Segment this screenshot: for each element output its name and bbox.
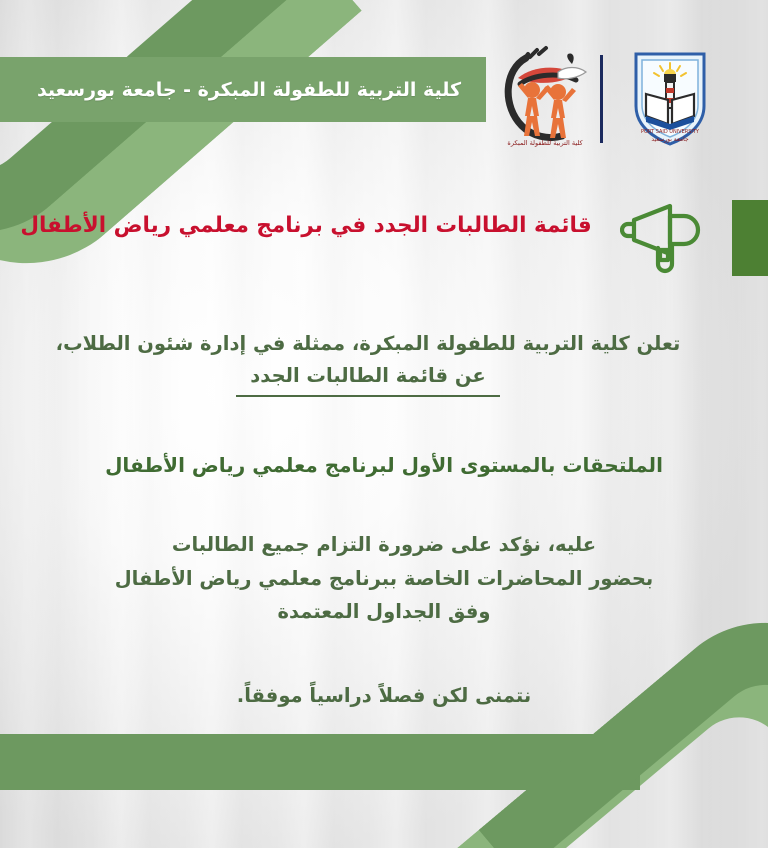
announcement-poster: كلية التربية للطفولة المبكرة - جامعة بور… <box>0 0 768 848</box>
logo-divider <box>600 55 603 143</box>
university-logo-caption-ar: جامعة بورسعيد <box>651 136 689 143</box>
university-logo: PORT SAID UNIVERSITY جامعة بورسعيد <box>620 44 720 150</box>
accent-rectangle <box>732 200 768 276</box>
intro-line-2-wrapper: عن قائمة الطالبات الجدد <box>0 360 736 398</box>
body-paragraph: عليه، نؤكد على ضرورة التزام جميع الطالبا… <box>0 528 768 629</box>
faculty-logo: كلية التربية للطفولة المبكرة <box>496 44 594 148</box>
megaphone-icon <box>620 198 706 278</box>
header-banner-text: كلية التربية للطفولة المبكرة - جامعة بور… <box>0 79 486 101</box>
body-line-2: بحضور المحاضرات الخاصة ببرنامج معلمي ريا… <box>0 562 768 596</box>
university-logo-caption-en: PORT SAID UNIVERSITY <box>641 129 700 135</box>
header-banner: كلية التربية للطفولة المبكرة - جامعة بور… <box>0 57 486 122</box>
body-line-1: عليه، نؤكد على ضرورة التزام جميع الطالبا… <box>0 528 768 562</box>
highlight-text: الملتحقات بالمستوى الأول لبرنامج معلمي ر… <box>0 450 768 480</box>
intro-line-1: تعلن كلية التربية للطفولة المبكرة، ممثلة… <box>56 332 681 355</box>
faculty-logo-caption: كلية التربية للطفولة المبكرة <box>507 139 583 147</box>
intro-paragraph: تعلن كلية التربية للطفولة المبكرة، ممثلة… <box>0 328 736 397</box>
page-title: قائمة الطالبات الجدد في برنامج معلمي ريا… <box>0 210 612 241</box>
intro-line-2: عن قائمة الطالبات الجدد <box>236 360 499 398</box>
body-line-3: وفق الجداول المعتمدة <box>0 595 768 629</box>
